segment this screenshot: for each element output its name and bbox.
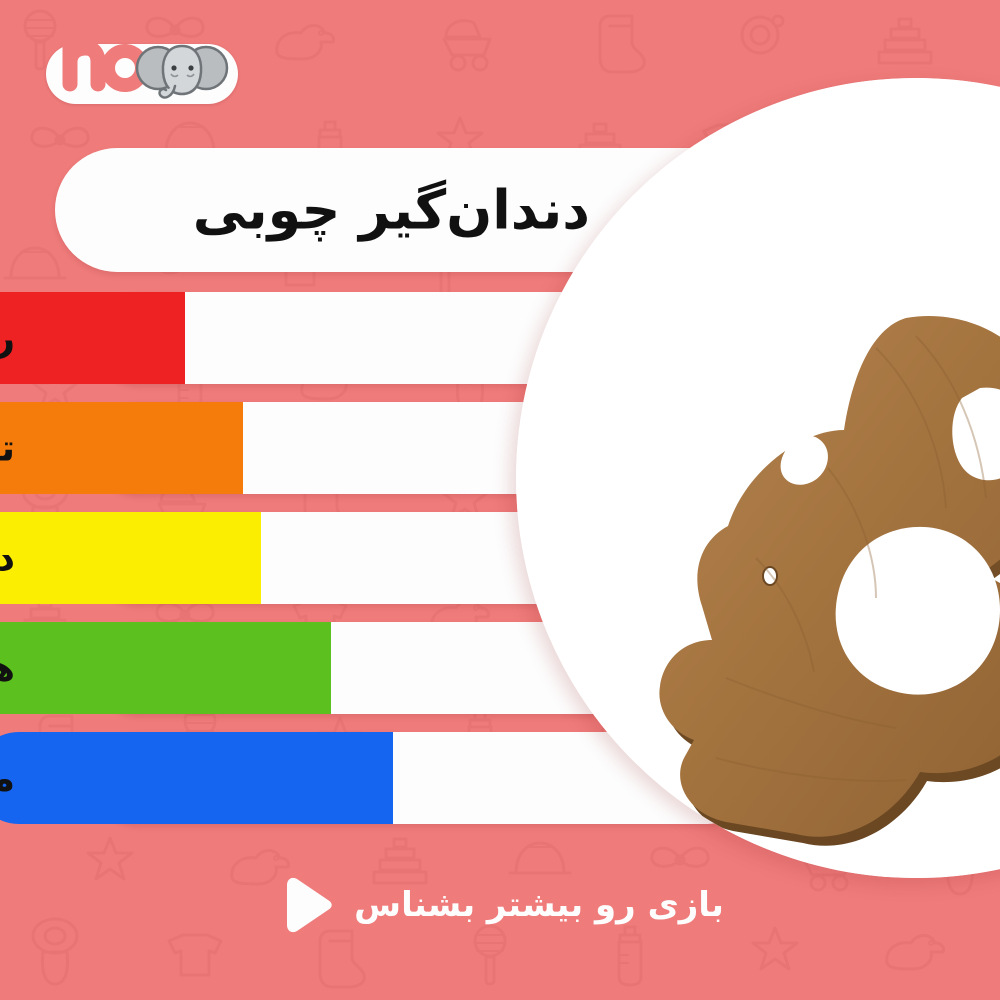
spec-row-color-tab — [0, 292, 185, 384]
spec-label-age-range: رده سنی — [0, 317, 15, 360]
cta-label: بازی رو بیشتر بشناس — [354, 885, 724, 925]
spec-label-skills: مهارت‌ها — [0, 757, 15, 800]
spec-row-color-tab — [0, 402, 243, 494]
product-photo — [516, 78, 1000, 878]
cta-more-info[interactable]: بازی رو بیشتر بشناس — [0, 870, 1000, 940]
spec-row-color-tab — [0, 622, 331, 714]
play-triangle-icon[interactable] — [276, 877, 336, 933]
spec-label-manufacturer: تولیدکننده — [0, 427, 15, 470]
infographic-card: hoo دندان‌گیر چوبی رده سنی ۶+ ماه تولیدک… — [0, 0, 1000, 1000]
spec-row-color-tab — [0, 512, 261, 604]
product-photo-circle — [516, 78, 1000, 878]
spec-label-category: دسته‌بندی — [0, 537, 15, 580]
spec-label-intelligences: هوش‌ها — [0, 647, 15, 690]
spec-row-color-tab — [0, 732, 393, 824]
